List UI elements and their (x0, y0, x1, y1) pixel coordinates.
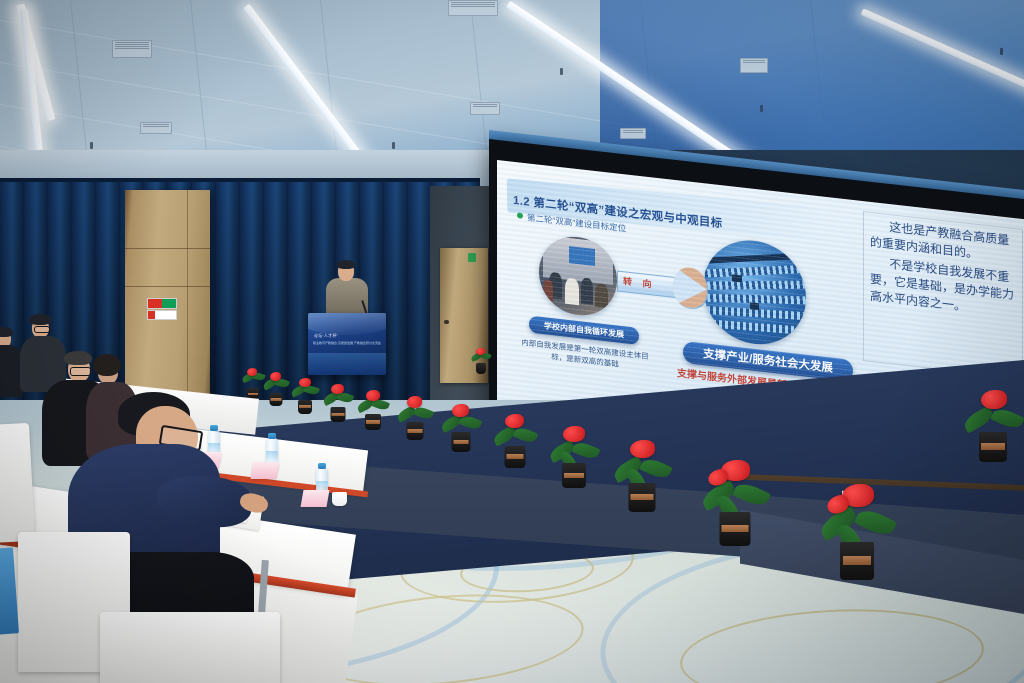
sprinkler-head (760, 105, 763, 112)
anthurium-plant (396, 396, 434, 440)
ceiling-vent (740, 58, 768, 73)
podium-banner-subtitle: 职业教育产教融合·高质量发展 产教融合研讨交流会 (313, 341, 381, 346)
anthurium-plant (262, 372, 290, 406)
anthurium-plant (290, 378, 320, 414)
ceiling-vent (448, 0, 498, 16)
name-card (251, 462, 280, 479)
ceiling-vent (112, 40, 152, 58)
anthurium-plant (818, 484, 896, 580)
fire-notice-sign (147, 310, 177, 320)
speaker-body (326, 278, 368, 318)
transition-arrow-icon: 转 向 (617, 259, 709, 309)
anthurium-plant (962, 390, 1024, 462)
anthurium-plant (612, 440, 672, 512)
exit-indicator-icon (468, 253, 476, 262)
chair[interactable] (0, 423, 35, 543)
sprinkler-head (90, 142, 93, 149)
anthurium-plant (356, 390, 390, 430)
exit-safety-sign (147, 298, 177, 309)
slide-textbox: 这也是产教融合高质量的重要内涵和目的。 不是学校自我发展不重要，它是基础，是办学… (863, 211, 1023, 379)
sprinkler-head (392, 142, 395, 149)
anthurium-plant (548, 426, 600, 488)
ceiling-vent (620, 128, 646, 139)
podium: 论坛“人才杯” 职业教育产教融合·高质量发展 产教融合研讨交流会 (308, 313, 386, 375)
anthurium-plant (700, 460, 770, 546)
conference-hall-photo: 1.2 第二轮“双高”建设之宏观与中观目标 第二轮“双高”建设目标定位 转 (0, 0, 1024, 683)
podium-banner-title: 论坛“人才杯” (314, 333, 338, 339)
building-photo (703, 235, 806, 350)
anthurium-plant (322, 384, 354, 422)
classroom-photo (539, 233, 617, 320)
name-card (301, 490, 330, 507)
paper-cup[interactable] (332, 492, 347, 506)
sprinkler-head (1000, 48, 1003, 55)
bullet-dot-icon (517, 212, 523, 219)
anthurium-plant (470, 348, 492, 374)
anthurium-plant (440, 404, 482, 452)
speaker-head (338, 262, 354, 281)
sprinkler-head (560, 68, 563, 75)
chair[interactable] (100, 612, 280, 683)
ceiling-vent (470, 102, 500, 115)
ceiling-vent (140, 122, 172, 134)
anthurium-plant (492, 414, 538, 468)
